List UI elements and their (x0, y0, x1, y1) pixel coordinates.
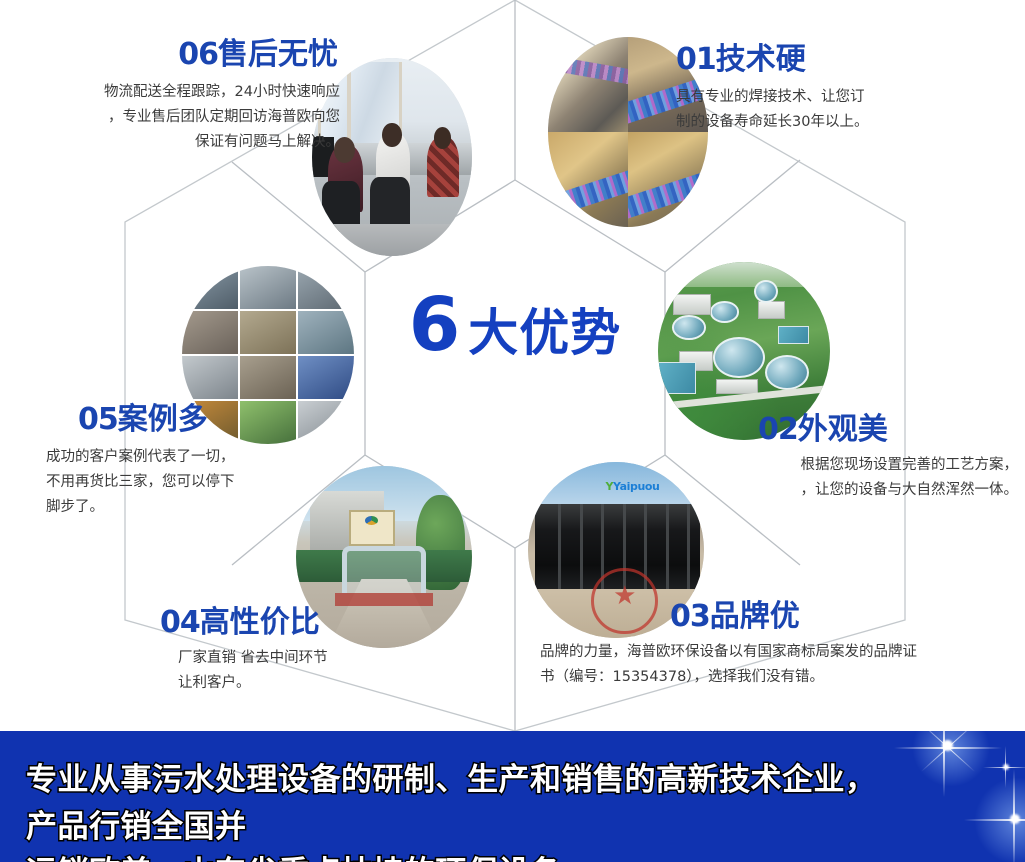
feature-03-desc: 品牌的力量，海普欧环保设备以有国家商标局案发的品牌证 书（编号：15354378… (540, 640, 1020, 690)
feature-06-heading: 06售后无忧 (10, 40, 340, 70)
feature-06-desc: 物流配送全程跟踪，24小时快速响应 ，专业售后团队定期回访海普欧向您 保证有问题… (10, 80, 340, 155)
feature-03: 03品牌优 品牌的力量，海普欧环保设备以有国家商标局案发的品牌证 书（编号：15… (540, 602, 1020, 690)
feature-05-heading: 05案例多 (10, 405, 340, 435)
feature-02-desc: 根据您现场设置完善的工艺方案， ，让您的设备与大自然浑然一体。 (678, 453, 1018, 503)
feature-04: 04高性价比 厂家直销 省去中间环节 让利客户。 (100, 608, 440, 696)
feature-01-heading: 01技术硬 (676, 45, 1016, 75)
center-label: 大优势 (468, 293, 621, 365)
feature-01: 01技术硬 具有专业的焊接技术、让您订 制的设备寿命延长30年以上。 (676, 45, 1016, 135)
feature-03-heading: 03品牌优 (540, 602, 1020, 632)
advantages-infographic: YYaipuou 6 大优势 06售后无忧 物流配送全程跟踪，24小时快速响应 … (0, 0, 1025, 862)
feature-02: 02外观美 根据您现场设置完善的工艺方案， ，让您的设备与大自然浑然一体。 (678, 415, 1018, 503)
banner-line-2: 远销欧美，山东省重点扶持的环保设备企业。 (26, 850, 566, 862)
feature-01-desc: 具有专业的焊接技术、让您订 制的设备寿命延长30年以上。 (676, 85, 1016, 135)
center-number: 6 (409, 292, 459, 359)
center-headline: 6 大优势 (400, 292, 630, 372)
bottom-banner: 专业从事污水处理设备的研制、生产和销售的高新技术企业，产品行销全国并 远销欧美，… (0, 731, 1025, 862)
feature-04-heading: 04高性价比 (100, 608, 440, 638)
feature-04-desc: 厂家直销 省去中间环节 让利客户。 (100, 646, 440, 696)
feature-06: 06售后无忧 物流配送全程跟踪，24小时快速响应 ，专业售后团队定期回访海普欧向… (10, 40, 340, 155)
banner-text: 专业从事污水处理设备的研制、生产和销售的高新技术企业，产品行销全国并 远销欧美，… (26, 757, 906, 862)
feature-05: 05案例多 成功的客户案例代表了一切， 不用再货比三家，您可以停下 脚步了。 (10, 405, 340, 520)
feature-02-heading: 02外观美 (678, 415, 1018, 445)
banner-line-1: 专业从事污水处理设备的研制、生产和销售的高新技术企业，产品行销全国并 (26, 757, 906, 850)
banner-line-2-row: 远销欧美，山东省重点扶持的环保设备企业。 全国咨询热线： 18853631118 (26, 850, 906, 862)
feature-05-desc: 成功的客户案例代表了一切， 不用再货比三家，您可以停下 脚步了。 (10, 445, 340, 520)
brand-logo: YYaipuou (605, 480, 659, 493)
